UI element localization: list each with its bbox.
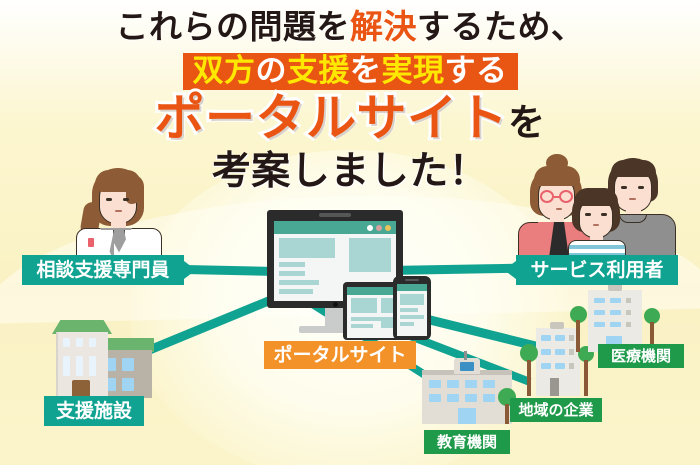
headline-line-2-wrap: 双方の支援を実現する <box>0 53 700 90</box>
label-school-text: 教育機関 <box>437 435 497 450</box>
monitor-power-dot <box>333 302 338 307</box>
headline-line2-seg-0: 双方 <box>193 53 256 88</box>
label-medical[interactable]: 医療機関 <box>598 344 684 368</box>
headline-line1-post: するため、 <box>417 8 585 45</box>
headline-line3-big: ポータルサイト <box>155 90 509 146</box>
headline-line1-pre: これらの問題を <box>116 8 351 45</box>
label-school[interactable]: 教育機関 <box>424 430 510 454</box>
label-facility[interactable]: 支援施設 <box>44 396 144 426</box>
headline-line-1: これらの問題を解決するため、 <box>0 10 700 43</box>
label-portal-site[interactable]: ポータルサイト <box>264 341 416 369</box>
monitor-notch <box>319 213 351 217</box>
label-facility-text: 支援施設 <box>56 402 132 421</box>
label-notch-left <box>504 261 516 279</box>
label-medical-text: 医療機関 <box>611 349 671 364</box>
headline-line-3-wrap: ポータルサイトを <box>0 93 700 143</box>
headline-line2-seg-4: 実現 <box>382 53 445 88</box>
headline-line-2: 双方の支援を実現する <box>183 53 518 90</box>
label-consultant-text: 相談支援専門員 <box>36 261 169 280</box>
headline-line2-seg-5: する <box>445 53 508 88</box>
headline-line2-seg-3: を <box>350 53 382 88</box>
hospital-building-icon <box>570 282 662 352</box>
school-building-icon <box>418 358 516 430</box>
label-service-user[interactable]: サービス利用者 <box>516 255 678 285</box>
headline-line-3: ポータルサイトを <box>155 93 546 143</box>
device-mockup-group <box>255 210 440 340</box>
label-consultant[interactable]: 相談支援専門員 <box>22 255 184 285</box>
label-company-text: 地域の企業 <box>518 403 593 418</box>
headline-line2-seg-2: 支援 <box>287 53 350 88</box>
label-company[interactable]: 地域の企業 <box>510 398 602 422</box>
label-notch-right <box>184 261 196 279</box>
family-icon <box>512 152 690 270</box>
facility-building-icon <box>38 312 154 398</box>
slide-canvas: これらの問題を解決するため、 双方の支援を実現する ポータルサイトを 考案しまし… <box>0 0 700 465</box>
headline-line3-tail: を <box>508 102 546 143</box>
label-service-user-text: サービス利用者 <box>530 261 663 280</box>
label-portal-site-text: ポータルサイト <box>273 346 406 365</box>
headline-line1-accent: 解決 <box>350 8 417 45</box>
headline-line2-seg-1: の <box>256 53 288 88</box>
